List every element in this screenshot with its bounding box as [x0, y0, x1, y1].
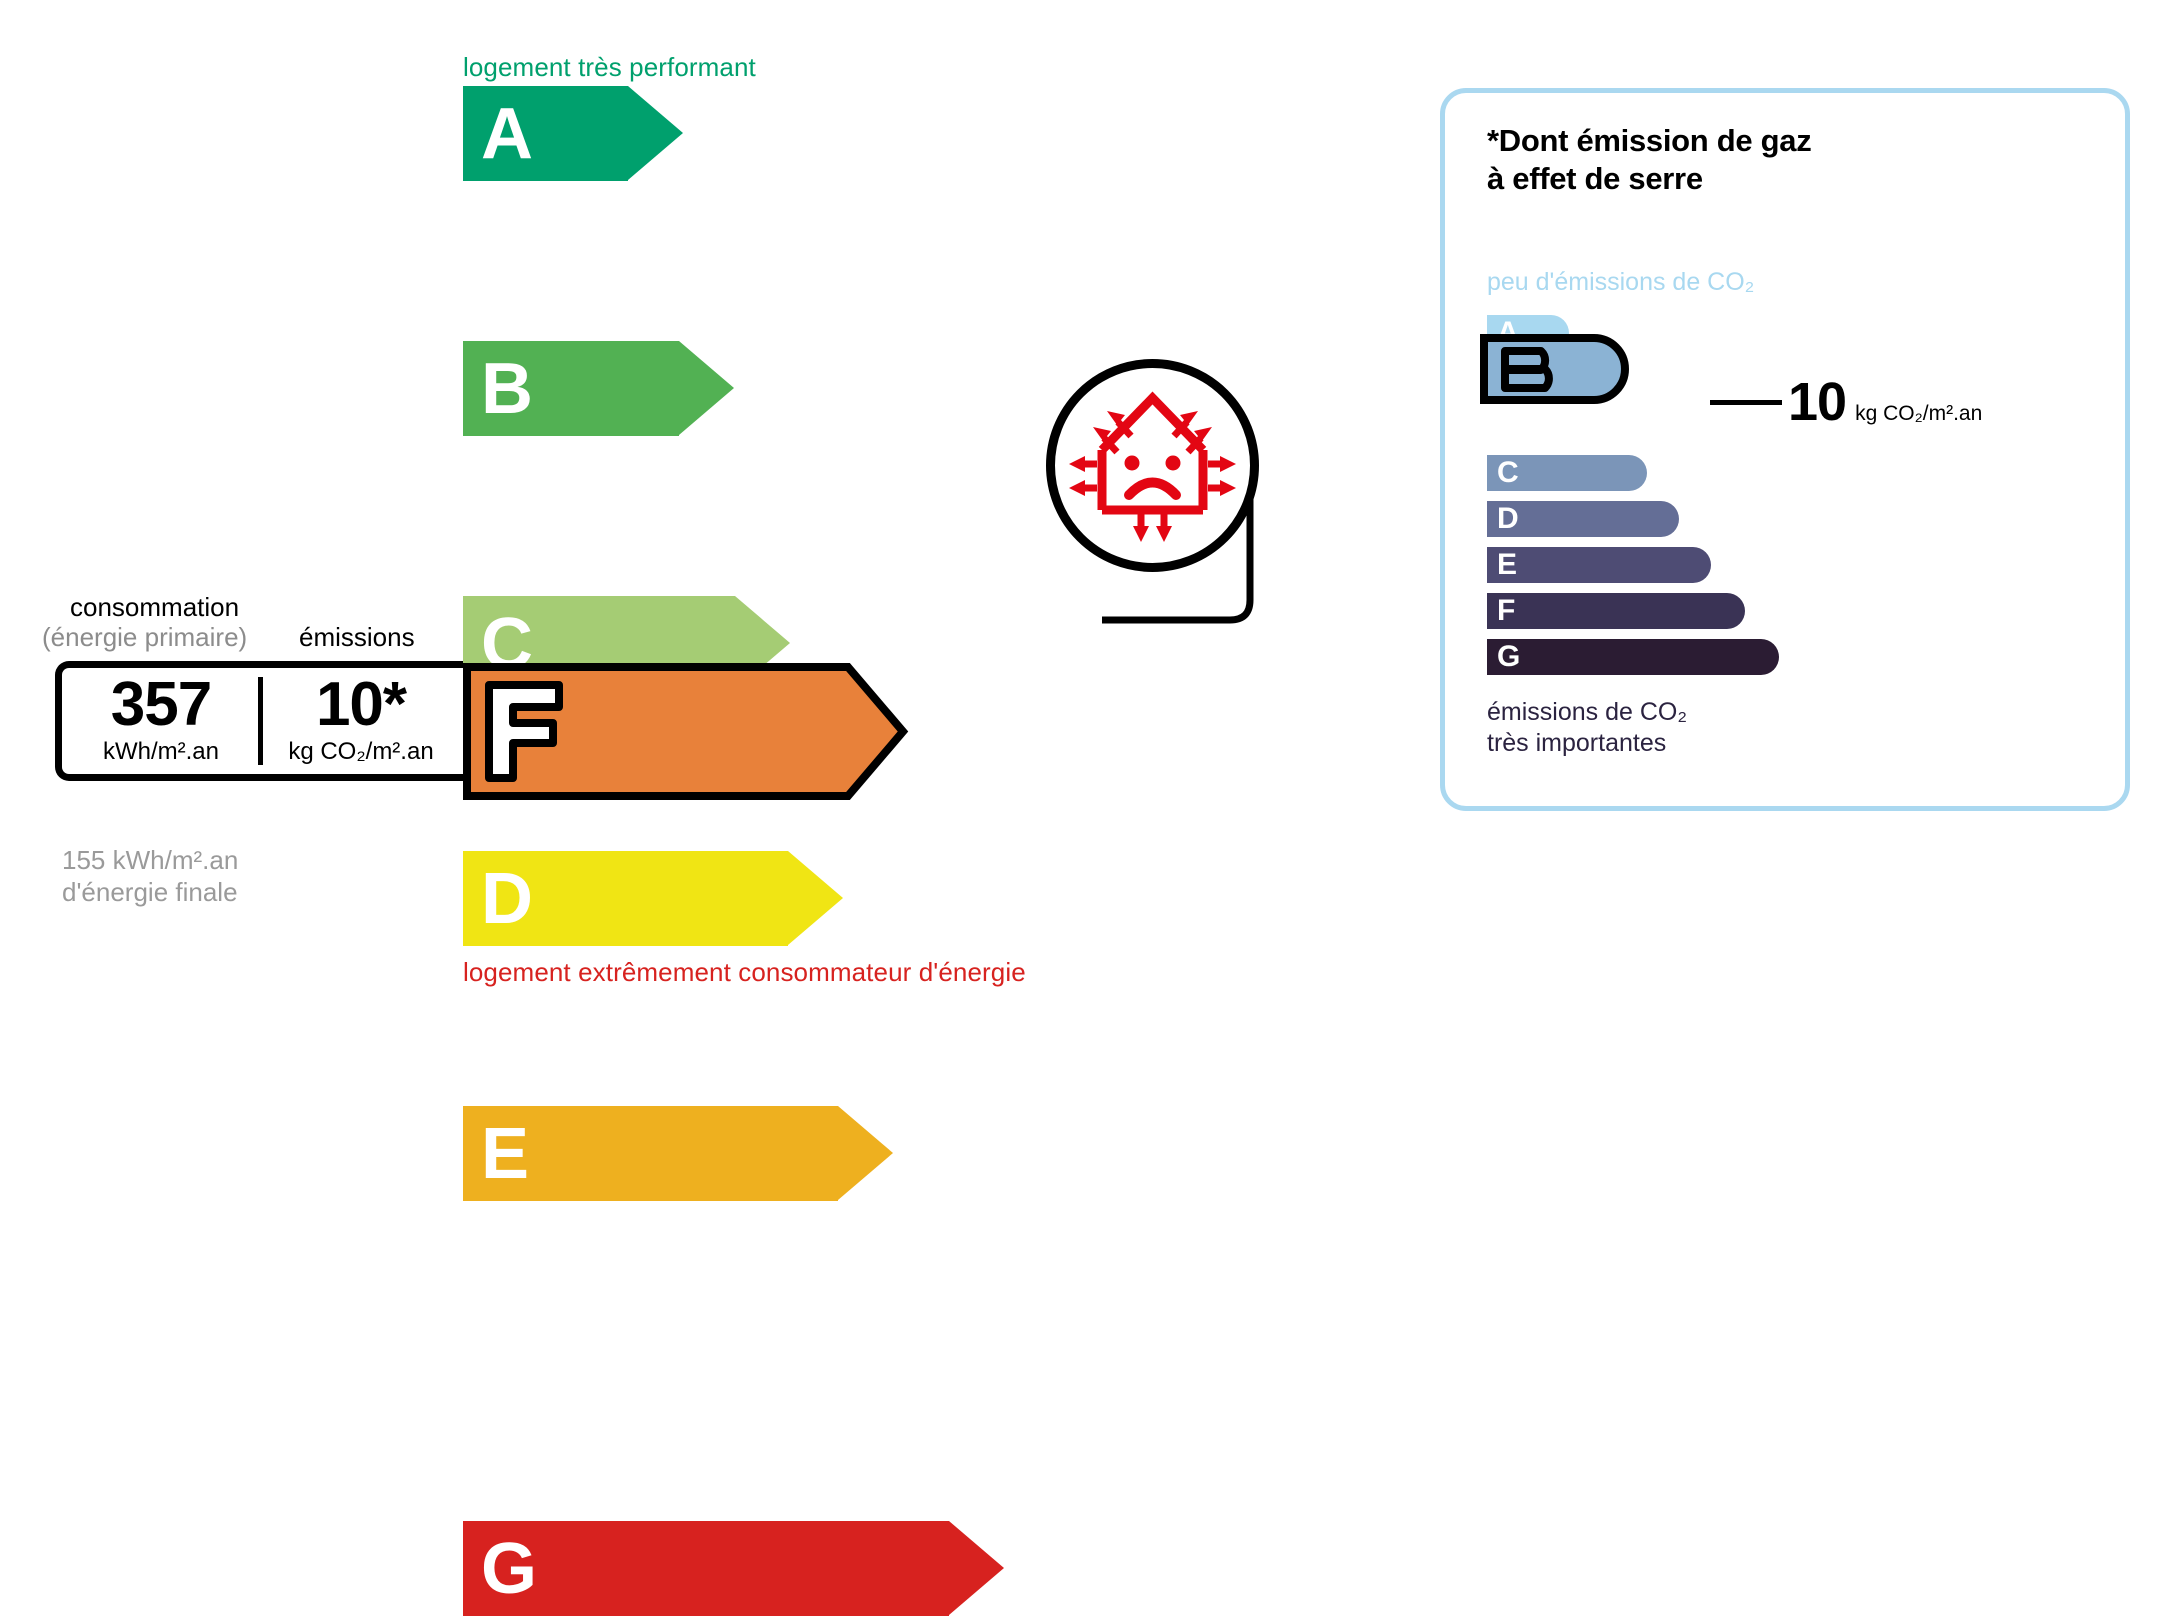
energy-bar-tip: [679, 341, 734, 435]
energy-bar-tip: [628, 86, 683, 180]
co2-unit: kg CO₂/m².an: [1855, 402, 1982, 426]
energy-top-label: logement très performant: [463, 52, 756, 83]
energy-bar-G: G: [463, 1521, 1004, 1616]
final-energy-line2: d'énergie finale: [62, 877, 238, 909]
co2-bar-letter: E: [1497, 550, 1517, 580]
energy-bar-B: B: [463, 341, 734, 436]
co2-value: 10: [1788, 375, 1846, 429]
co2-bottom-label-line1: émissions de CO₂: [1487, 697, 1687, 728]
co2-title-line2: à effet de serre: [1487, 160, 1811, 198]
energy-bar-letter: E: [481, 1118, 529, 1190]
energy-bar-tip: [949, 1521, 1004, 1615]
sad-house-heat-loss-icon: [1045, 358, 1260, 573]
emissions-value: 10*: [316, 676, 406, 735]
energy-bar-letter: G: [481, 1533, 537, 1605]
co2-bar-C: C: [1487, 455, 1647, 491]
co2-title-line1: *Dont émission de gaz: [1487, 122, 1811, 160]
energy-bar-letter: D: [481, 863, 533, 935]
co2-top-label: peu d'émissions de CO₂: [1487, 268, 1754, 297]
co2-bar-letter: F: [1497, 596, 1515, 626]
dpe-diagram: logement très performant ABCDEG logement…: [0, 0, 2170, 1079]
value-box: 357 kWh/m².an 10* kg CO₂/m².an: [55, 661, 463, 781]
co2-bottom-label-line2: très importantes: [1487, 728, 1687, 759]
final-energy-line1: 155 kWh/m².an: [62, 845, 238, 877]
emissions-unit: kg CO₂/m².an: [288, 738, 433, 766]
energy-bar-tip: [788, 851, 843, 945]
co2-bar-F: F: [1487, 593, 1745, 629]
energy-bar-letter: A: [481, 98, 533, 170]
emissions-label: émissions: [299, 622, 415, 653]
co2-bar-B-highlighted: [1479, 333, 1669, 405]
co2-bar-D: D: [1487, 501, 1679, 537]
co2-bottom-label: émissions de CO₂ très importantes: [1487, 697, 1687, 758]
co2-bar-letter: D: [1497, 504, 1519, 534]
energy-bar-letter: B: [481, 353, 533, 425]
final-energy-note: 155 kWh/m².an d'énergie finale: [62, 845, 238, 908]
emissions-value-cell: 10* kg CO₂/m².an: [259, 661, 463, 781]
energy-bar-D: D: [463, 851, 843, 946]
consumption-value: 357: [111, 676, 211, 735]
co2-bar-letter: G: [1497, 642, 1520, 672]
energy-bar-E: E: [463, 1106, 893, 1201]
energy-bar-F-highlighted: [463, 663, 983, 800]
co2-bar-letter: C: [1497, 458, 1519, 488]
energy-bar-A: A: [463, 86, 683, 181]
energy-bottom-label: logement extrêmement consommateur d'éner…: [463, 957, 1026, 988]
co2-panel-title: *Dont émission de gaz à effet de serre: [1487, 122, 1811, 198]
co2-bar-body: [1487, 547, 1711, 583]
co2-bar-E: E: [1487, 547, 1711, 583]
consumption-sublabel: (énergie primaire): [42, 622, 247, 653]
co2-bar-body: [1487, 593, 1745, 629]
consumption-label: consommation: [70, 592, 239, 623]
co2-bar-G: G: [1487, 639, 1779, 675]
co2-value-callout: 10 kg CO₂/m².an: [1710, 375, 1982, 429]
consumption-unit: kWh/m².an: [103, 738, 219, 766]
co2-callout-dash: [1710, 400, 1782, 405]
energy-bar-tip: [838, 1106, 893, 1200]
co2-bar-body: [1487, 639, 1779, 675]
consumption-value-cell: 357 kWh/m².an: [63, 661, 259, 781]
